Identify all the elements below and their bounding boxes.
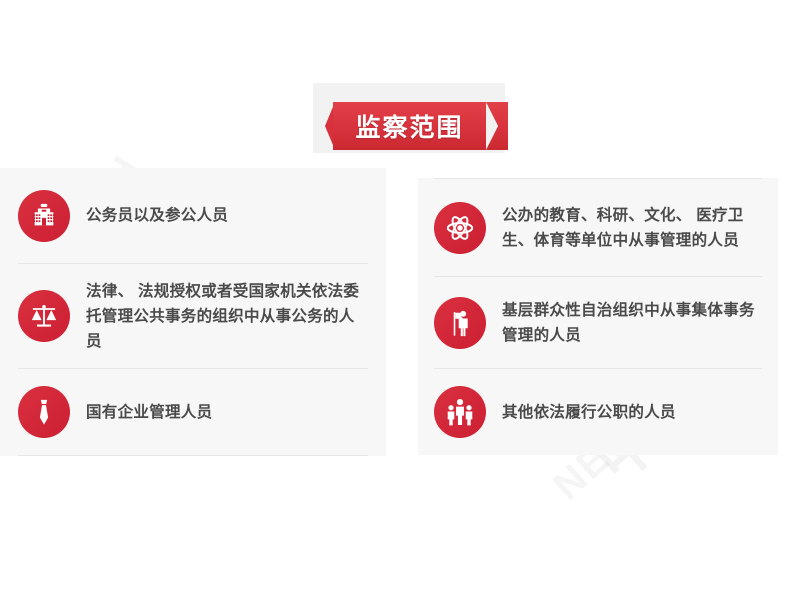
list-item: 其他依法履行公职的人员 bbox=[434, 368, 762, 455]
list-item: 国有企业管理人员 bbox=[18, 368, 368, 456]
list-item-label: 公务员以及参公人员 bbox=[86, 203, 228, 228]
person-with-flag-icon bbox=[434, 297, 486, 349]
list-item: 公办的教育、科研、文化、 医疗卫生、体育等单位中从事管理的人员 bbox=[434, 178, 762, 276]
necktie-icon bbox=[18, 386, 70, 438]
list-item-label: 其他依法履行公职的人员 bbox=[502, 400, 676, 425]
list-item: 基层群众性自治组织中从事集体事务管理的人员 bbox=[434, 276, 762, 368]
right-panel: 公办的教育、科研、文化、 医疗卫生、体育等单位中从事管理的人员 基层群众性自治组… bbox=[418, 178, 778, 455]
scales-of-justice-icon bbox=[18, 290, 70, 342]
left-panel: 公务员以及参公人员 法律、 法规授权或者受国家机关依法委托管理公共事务的组织中从… bbox=[0, 168, 386, 456]
list-item: 公务员以及参公人员 bbox=[18, 168, 368, 263]
list-item-label: 国有企业管理人员 bbox=[86, 400, 212, 425]
list-item-label: 法律、 法规授权或者受国家机关依法委托管理公共事务的组织中从事公务的人员 bbox=[86, 279, 368, 354]
ribbon-tail bbox=[486, 102, 508, 150]
list-item: 法律、 法规授权或者受国家机关依法委托管理公共事务的组织中从事公务的人员 bbox=[18, 263, 368, 368]
group-of-people-icon bbox=[434, 386, 486, 438]
government-building-icon bbox=[18, 190, 70, 242]
list-item-label: 基层群众性自治组织中从事集体事务管理的人员 bbox=[502, 298, 762, 348]
page-title: 监察范围 bbox=[333, 102, 486, 150]
banner-backing: 监察范围 bbox=[313, 83, 505, 153]
atom-icon bbox=[434, 202, 486, 254]
list-item-label: 公办的教育、科研、文化、 医疗卫生、体育等单位中从事管理的人员 bbox=[502, 203, 762, 253]
